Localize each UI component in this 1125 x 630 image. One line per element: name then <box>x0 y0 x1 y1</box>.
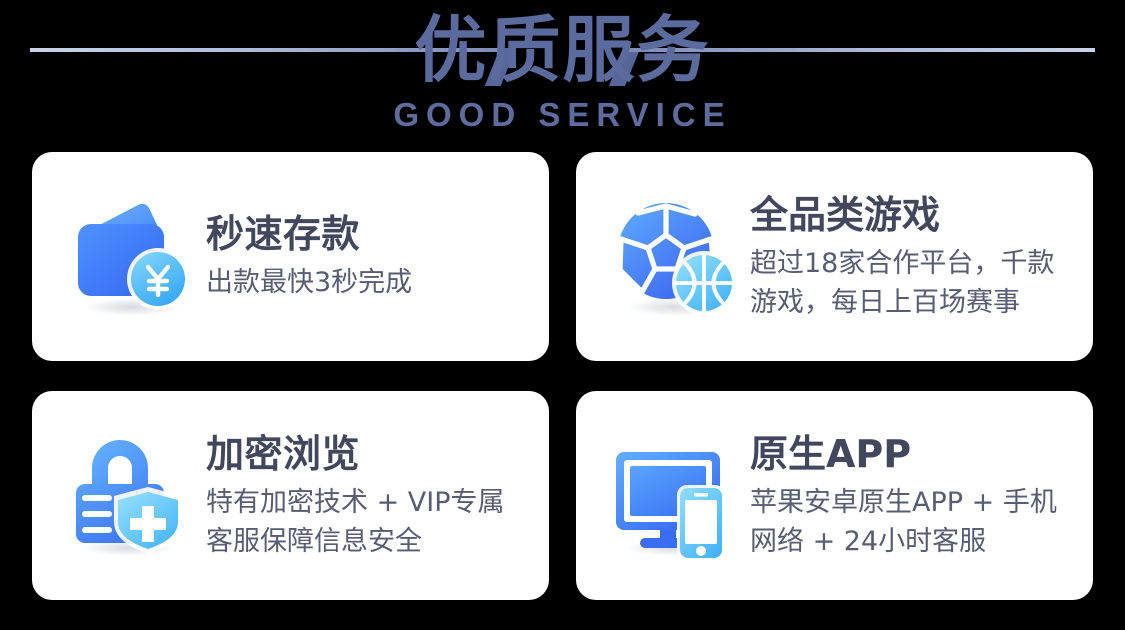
feature-card-all-games[interactable]: 全品类游戏 超过18家合作平台，千款游戏，每日上百场赛事 <box>576 152 1093 361</box>
feature-card-grid: 秒速存款 出款最快3秒完成 <box>32 152 1093 600</box>
feature-card-description: 苹果安卓原生APP + 手机网络 + 24小时客服 <box>750 483 1075 561</box>
feature-card-text: 原生APP 苹果安卓原生APP + 手机网络 + 24小时客服 <box>744 431 1075 561</box>
feature-card-fast-deposit[interactable]: 秒速存款 出款最快3秒完成 <box>32 152 549 361</box>
lock-shield-icon <box>60 426 200 566</box>
promo-banner: 优质服务 GOOD SERVICE <box>0 0 1125 630</box>
soccer-basketball-icon <box>604 187 744 327</box>
feature-card-description: 超过18家合作平台，千款游戏，每日上百场赛事 <box>750 244 1075 322</box>
feature-card-text: 加密浏览 特有加密技术 + VIP专属客服保障信息安全 <box>200 431 531 561</box>
feature-card-encrypted-browsing[interactable]: 加密浏览 特有加密技术 + VIP专属客服保障信息安全 <box>32 391 549 600</box>
feature-card-description: 特有加密技术 + VIP专属客服保障信息安全 <box>206 483 531 561</box>
feature-card-title: 全品类游戏 <box>750 192 1075 238</box>
feature-card-title: 加密浏览 <box>206 431 531 477</box>
feature-card-text: 全品类游戏 超过18家合作平台，千款游戏，每日上百场赛事 <box>744 192 1075 322</box>
page-subtitle: GOOD SERVICE <box>0 96 1125 134</box>
feature-card-native-app[interactable]: 原生APP 苹果安卓原生APP + 手机网络 + 24小时客服 <box>576 391 1093 600</box>
wallet-yen-icon <box>60 187 200 327</box>
page-title: 优质服务 <box>0 8 1125 92</box>
banner-header: 优质服务 GOOD SERVICE <box>0 0 1125 150</box>
feature-card-text: 秒速存款 出款最快3秒完成 <box>200 211 531 302</box>
feature-card-description: 出款最快3秒完成 <box>206 263 531 302</box>
monitor-phone-icon <box>604 426 744 566</box>
feature-card-title: 原生APP <box>750 431 1075 477</box>
feature-card-title: 秒速存款 <box>206 211 531 257</box>
